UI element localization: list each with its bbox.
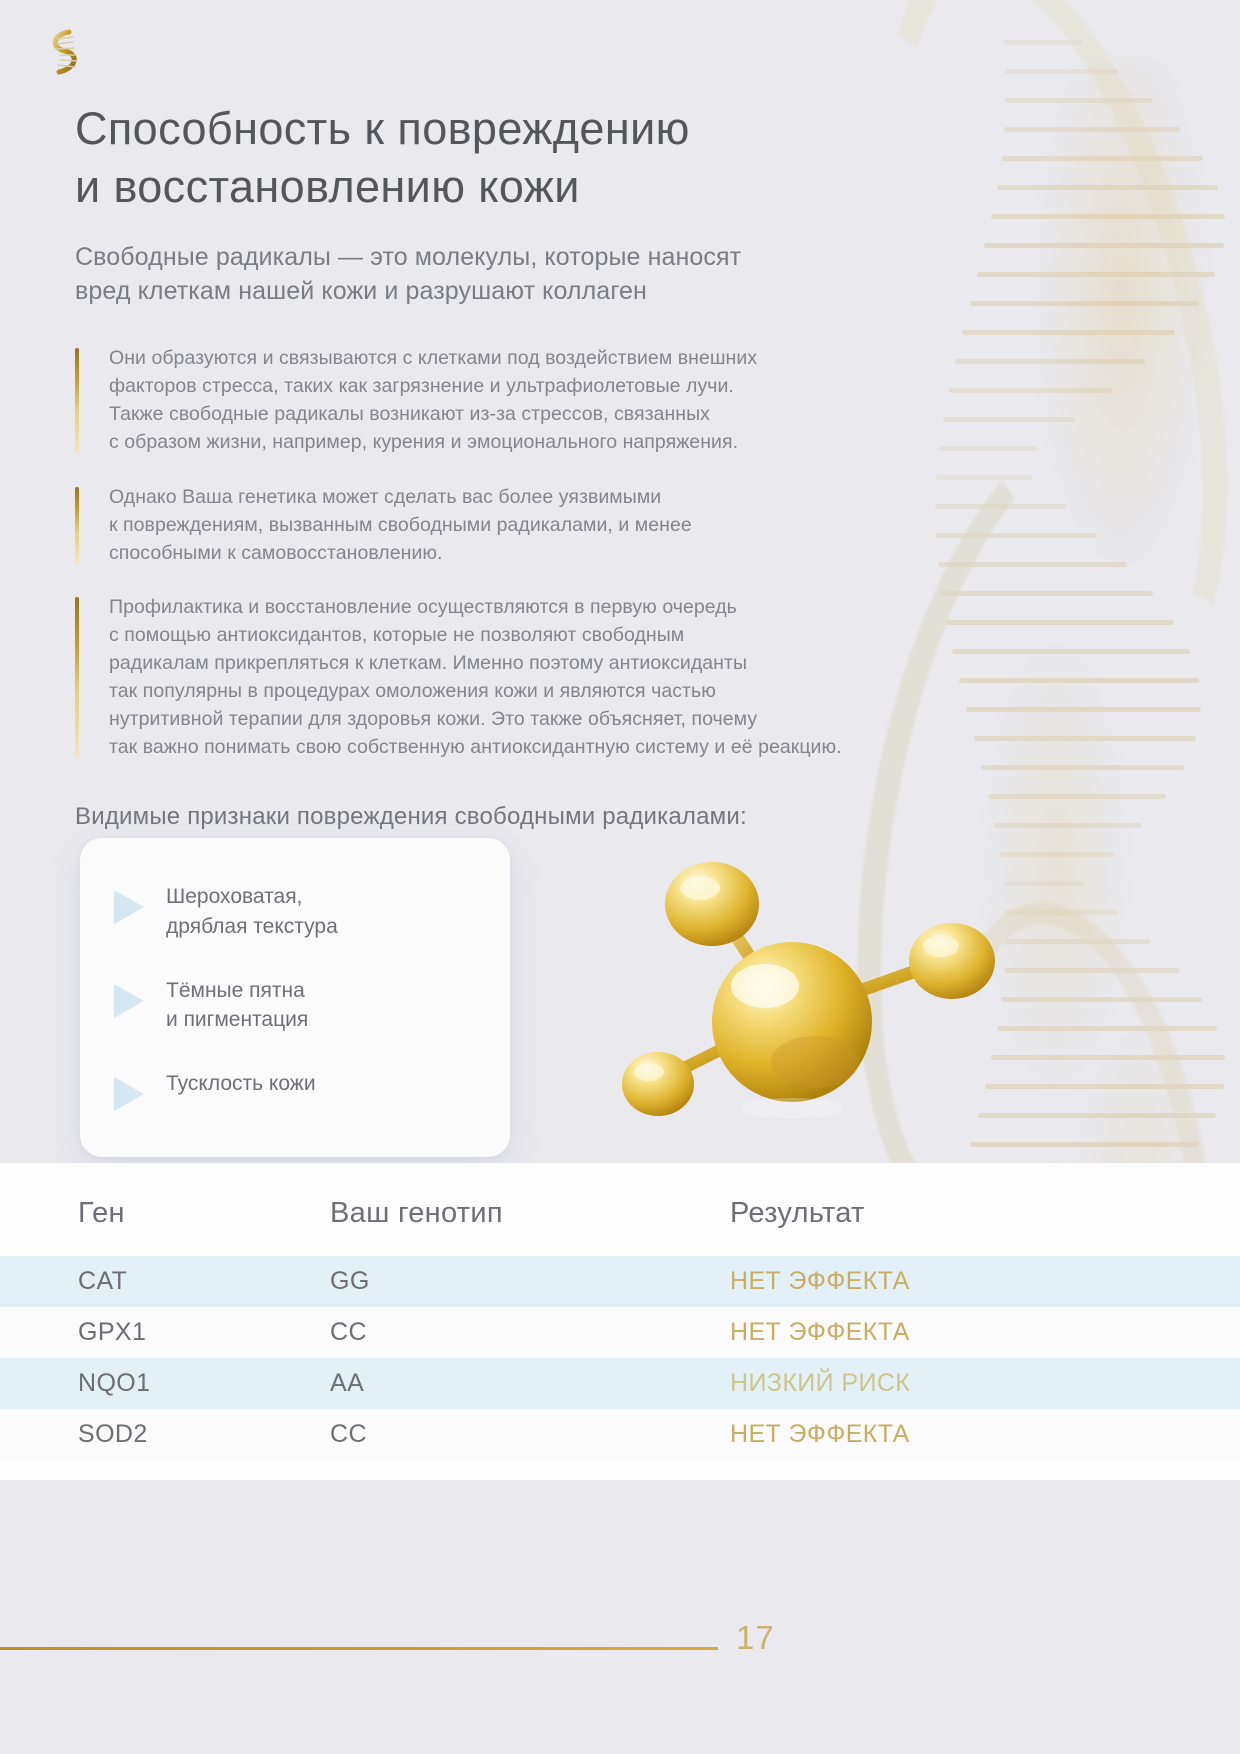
cell-result: НЕТ ЭФФЕКТА xyxy=(730,1307,1240,1358)
column-header-result: Результат xyxy=(730,1163,1240,1256)
triangle-bullet-icon xyxy=(114,890,144,924)
page-lead-text: Свободные радикалы — это молекулы, котор… xyxy=(75,241,1000,308)
info-block: Они образуются и связываются с клетками … xyxy=(75,344,1000,456)
gold-accent-bar xyxy=(75,597,79,757)
cell-gene: CAT xyxy=(0,1256,330,1307)
cell-gene: SOD2 xyxy=(0,1409,330,1460)
symptom-item: Тусклость кожи xyxy=(114,1069,480,1111)
column-header-gene: Ген xyxy=(0,1163,330,1256)
table-row: CAT GG НЕТ ЭФФЕКТА xyxy=(0,1256,1240,1307)
cell-genotype: GG xyxy=(330,1256,730,1307)
info-block-text: Профилактика и восстановление осуществля… xyxy=(109,593,1000,761)
info-blocks: Они образуются и связываются с клетками … xyxy=(75,344,1000,761)
info-block-text: Они образуются и связываются с клетками … xyxy=(109,344,1000,456)
cell-result: НИЗКИЙ РИСК xyxy=(730,1358,1240,1409)
table-row: GPX1 CC НЕТ ЭФФЕКТА xyxy=(0,1307,1240,1358)
info-block-text: Однако Ваша генетика может сделать вас б… xyxy=(109,483,1000,567)
page-number: 17 xyxy=(736,1619,775,1657)
cell-genotype: CC xyxy=(330,1409,730,1460)
symptom-item: Тёмные пятна и пигментация xyxy=(114,976,480,1036)
table-row: NQO1 AA НИЗКИЙ РИСК xyxy=(0,1358,1240,1409)
symptom-card: Шероховатая, дряблая текстура Тёмные пят… xyxy=(80,838,510,1157)
results-table-section: Ген Ваш генотип Результат CAT GG НЕТ ЭФФ… xyxy=(0,1163,1240,1480)
page-title: Способность к повреждению и восстановлен… xyxy=(75,100,1000,215)
triangle-bullet-icon xyxy=(114,1077,144,1111)
symptom-label: Тусклость кожи xyxy=(166,1069,316,1099)
triangle-bullet-icon xyxy=(114,984,144,1018)
genotype-results-table: Ген Ваш генотип Результат CAT GG НЕТ ЭФФ… xyxy=(0,1163,1240,1460)
gold-accent-bar xyxy=(75,487,79,563)
page-footer: 17 xyxy=(0,1589,1240,1754)
cell-gene: GPX1 xyxy=(0,1307,330,1358)
cell-gene: NQO1 xyxy=(0,1358,330,1409)
visible-signs-heading: Видимые признаки повреждения свободными … xyxy=(75,803,1000,831)
info-block: Однако Ваша генетика может сделать вас б… xyxy=(75,483,1000,567)
info-block: Профилактика и восстановление осуществля… xyxy=(75,593,1000,761)
table-row: SOD2 CC НЕТ ЭФФЕКТА xyxy=(0,1409,1240,1460)
page-content: Способность к повреждению и восстановлен… xyxy=(0,0,1000,831)
cell-genotype: AA xyxy=(330,1358,730,1409)
gold-molecule-illustration xyxy=(560,826,1030,1156)
table-header-row: Ген Ваш генотип Результат xyxy=(0,1163,1240,1256)
cell-result: НЕТ ЭФФЕКТА xyxy=(730,1409,1240,1460)
symptom-label: Шероховатая, дряблая текстура xyxy=(166,882,338,942)
symptom-label: Тёмные пятна и пигментация xyxy=(166,976,308,1036)
symptom-item: Шероховатая, дряблая текстура xyxy=(114,882,480,942)
footer-gold-rule xyxy=(0,1647,718,1650)
gold-accent-bar xyxy=(75,348,79,452)
cell-genotype: CC xyxy=(330,1307,730,1358)
cell-result: НЕТ ЭФФЕКТА xyxy=(730,1256,1240,1307)
column-header-genotype: Ваш генотип xyxy=(330,1163,730,1256)
